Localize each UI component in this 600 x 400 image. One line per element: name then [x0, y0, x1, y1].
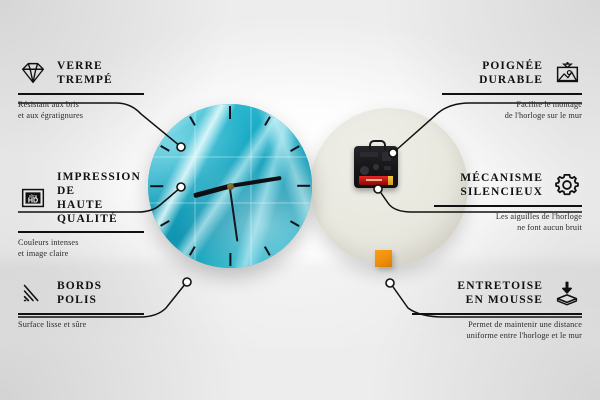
- battery: [359, 176, 393, 185]
- feature-title: MÉCANISMESILENCIEUX: [460, 171, 543, 199]
- feature-description: Facilite le montagede l'horloge sur le m…: [442, 99, 582, 122]
- product-infographic: VERRETREMPÉ Résistant aux briset aux égr…: [0, 0, 600, 400]
- feature-header: MÉCANISMESILENCIEUX: [434, 170, 582, 200]
- mechanism-dial-small: [373, 164, 379, 170]
- mechanism-dial-large: [360, 166, 369, 175]
- feature-rule: [412, 313, 582, 315]
- svg-text:HD: HD: [28, 197, 38, 205]
- foam-spacer: [375, 250, 392, 267]
- feature-title: VERRETREMPÉ: [57, 59, 113, 87]
- picture-hanger-icon: [552, 58, 582, 88]
- feature-bords-polis[interactable]: BORDSPOLIS Surface lisse et sûre: [18, 278, 144, 330]
- feature-header: VERRETREMPÉ: [18, 58, 144, 88]
- feature-title: IMPRESSION DEHAUTE QUALITÉ: [57, 170, 144, 226]
- feature-entretoise-en-mousse[interactable]: ENTRETOISEEN MOUSSE Permet de maintenir …: [412, 278, 582, 342]
- feature-description: Surface lisse et sûre: [18, 319, 144, 331]
- feature-title: POIGNÉEDURABLE: [479, 59, 543, 87]
- mechanism-label: [360, 152, 378, 157]
- feature-description: Les aiguilles de l'horlogene font aucun …: [434, 211, 582, 234]
- feature-verre-trempe[interactable]: VERRETREMPÉ Résistant aux briset aux égr…: [18, 58, 144, 122]
- feature-rule: [442, 93, 582, 95]
- gear-icon: [552, 170, 582, 200]
- mechanism-switch: [384, 166, 391, 170]
- quartz-mechanism: [354, 146, 398, 188]
- feature-rule: [18, 93, 144, 95]
- mechanism-module: [382, 152, 391, 161]
- feature-impression-haute-qualite[interactable]: ultra HD IMPRESSION DEHAUTE QUALITÉ Coul…: [18, 170, 144, 260]
- polished-edge-icon: [18, 278, 48, 308]
- clock-face-front: [148, 104, 312, 268]
- feature-header: BORDSPOLIS: [18, 278, 144, 308]
- diamond-icon: [18, 58, 48, 88]
- foam-spacer-icon: [552, 278, 582, 308]
- feature-description: Permet de maintenir une distanceuniforme…: [412, 319, 582, 342]
- feature-header: POIGNÉEDURABLE: [442, 58, 582, 88]
- feature-rule: [434, 205, 582, 207]
- feature-description: Couleurs intenseset image claire: [18, 237, 144, 260]
- hands-center-cap: [227, 183, 234, 190]
- feature-description: Résistant aux briset aux égratignures: [18, 99, 144, 122]
- feature-poignee-durable[interactable]: POIGNÉEDURABLE Facilite le montagede l'h…: [442, 58, 582, 122]
- feature-header: ultra HD IMPRESSION DEHAUTE QUALITÉ: [18, 170, 144, 226]
- battery-cap: [388, 176, 393, 185]
- feature-title: BORDSPOLIS: [57, 279, 102, 307]
- feature-header: ENTRETOISEEN MOUSSE: [412, 278, 582, 308]
- feature-rule: [18, 231, 144, 233]
- feature-rule: [18, 313, 144, 315]
- feature-mecanisme-silencieux[interactable]: MÉCANISMESILENCIEUX Les aiguilles de l'h…: [434, 170, 582, 234]
- mechanism-hanger-tab: [369, 140, 386, 150]
- feature-title: ENTRETOISEEN MOUSSE: [457, 279, 543, 307]
- ultra-hd-badge-icon: ultra HD: [18, 183, 48, 213]
- battery-stripe: [366, 179, 382, 181]
